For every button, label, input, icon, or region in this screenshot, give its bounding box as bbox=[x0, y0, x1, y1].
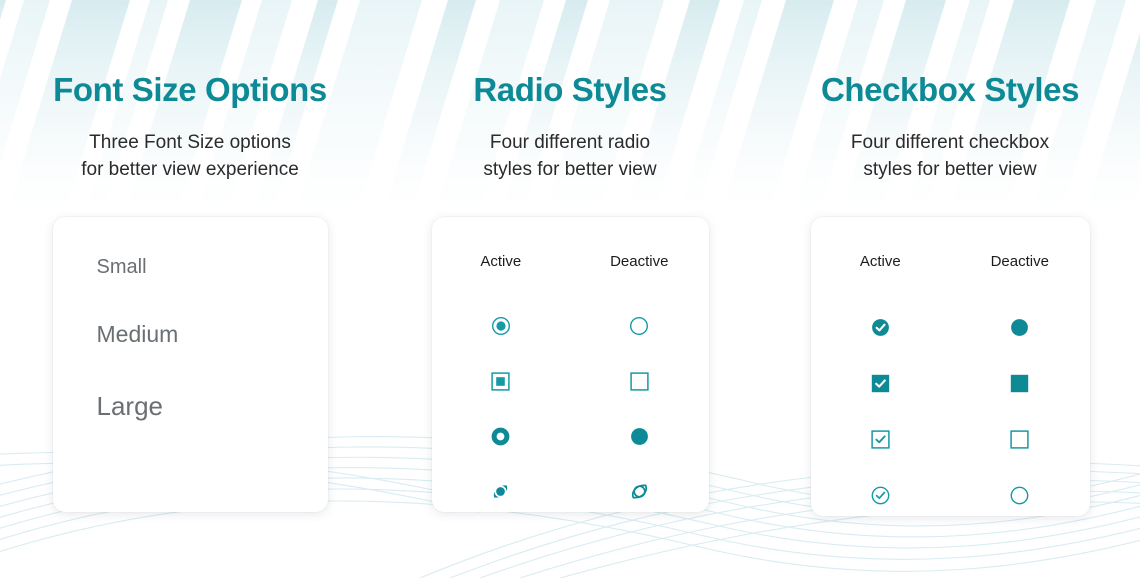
font-size-card: Small Medium Large bbox=[53, 217, 328, 512]
column-subtitle: Three Font Size options for better view … bbox=[81, 130, 299, 184]
page-title: Radio Styles bbox=[473, 73, 666, 106]
square-filled-icon[interactable] bbox=[950, 356, 1090, 412]
radio-lens-outline-icon bbox=[629, 481, 650, 502]
column-header-active: Active bbox=[432, 253, 571, 270]
radio-square-empty-icon[interactable] bbox=[570, 354, 709, 409]
page-root: Font Size Options Three Font Size option… bbox=[0, 0, 1140, 578]
table-header-row: Active Deactive bbox=[432, 253, 709, 270]
radio-donut-icon bbox=[491, 427, 510, 446]
radio-ring-empty-icon bbox=[629, 316, 649, 336]
radio-styles-card: Active Deactive bbox=[432, 217, 709, 512]
font-size-option-small[interactable]: Small bbox=[97, 257, 328, 277]
check-circle-outline-icon[interactable] bbox=[811, 468, 951, 524]
radio-square-empty-icon bbox=[630, 372, 649, 391]
column-checkbox-styles: Checkbox Styles Four different checkbox … bbox=[760, 0, 1140, 578]
radio-lens-filled-icon[interactable] bbox=[432, 464, 571, 519]
radio-donut-icon[interactable] bbox=[432, 409, 571, 464]
column-header-deactive: Deactive bbox=[570, 253, 709, 270]
checkbox-styles-card: Active Deactive bbox=[811, 217, 1090, 516]
font-size-option-large[interactable]: Large bbox=[97, 393, 328, 419]
table-row bbox=[432, 299, 709, 354]
table-row bbox=[811, 300, 1090, 356]
table-row bbox=[432, 409, 709, 464]
circle-outline-icon bbox=[1010, 486, 1029, 505]
circle-outline-icon[interactable] bbox=[950, 468, 1090, 524]
radio-disc-icon bbox=[630, 427, 649, 446]
circle-filled-icon[interactable] bbox=[950, 300, 1090, 356]
radio-option-table: Active Deactive bbox=[432, 217, 709, 519]
circle-filled-icon bbox=[1010, 318, 1029, 337]
radio-lens-filled-icon bbox=[490, 481, 511, 502]
check-circle-outline-icon bbox=[871, 486, 890, 505]
column-font-size-options: Font Size Options Three Font Size option… bbox=[0, 0, 380, 578]
table-row bbox=[811, 356, 1090, 412]
check-circle-filled-icon bbox=[871, 318, 890, 337]
column-radio-styles: Radio Styles Four different radio styles… bbox=[380, 0, 760, 578]
radio-ring-empty-icon[interactable] bbox=[570, 299, 709, 354]
check-square-filled-icon[interactable] bbox=[811, 356, 951, 412]
square-outline-icon[interactable] bbox=[950, 412, 1090, 468]
radio-ring-dot-icon[interactable] bbox=[432, 299, 571, 354]
table-row bbox=[432, 354, 709, 409]
column-header-deactive: Deactive bbox=[950, 253, 1090, 270]
table-header-row: Active Deactive bbox=[811, 253, 1090, 270]
checkbox-option-table: Active Deactive bbox=[811, 217, 1090, 524]
column-header-active: Active bbox=[811, 253, 951, 270]
table-row bbox=[432, 464, 709, 519]
radio-ring-dot-icon bbox=[491, 316, 511, 336]
check-square-outline-icon bbox=[871, 430, 890, 449]
square-outline-icon bbox=[1010, 430, 1029, 449]
table-row bbox=[811, 468, 1090, 524]
radio-disc-icon[interactable] bbox=[570, 409, 709, 464]
page-title: Checkbox Styles bbox=[821, 73, 1079, 106]
check-circle-filled-icon[interactable] bbox=[811, 300, 951, 356]
check-square-outline-icon[interactable] bbox=[811, 412, 951, 468]
page-title: Font Size Options bbox=[53, 73, 327, 106]
radio-lens-outline-icon[interactable] bbox=[570, 464, 709, 519]
column-subtitle: Four different radio styles for better v… bbox=[483, 130, 656, 184]
check-square-filled-icon bbox=[871, 374, 890, 393]
font-size-option-medium[interactable]: Medium bbox=[97, 323, 328, 346]
radio-square-filled-icon bbox=[491, 372, 510, 391]
radio-square-filled-icon[interactable] bbox=[432, 354, 571, 409]
column-subtitle: Four different checkbox styles for bette… bbox=[851, 130, 1049, 184]
square-filled-icon bbox=[1010, 374, 1029, 393]
table-row bbox=[811, 412, 1090, 468]
